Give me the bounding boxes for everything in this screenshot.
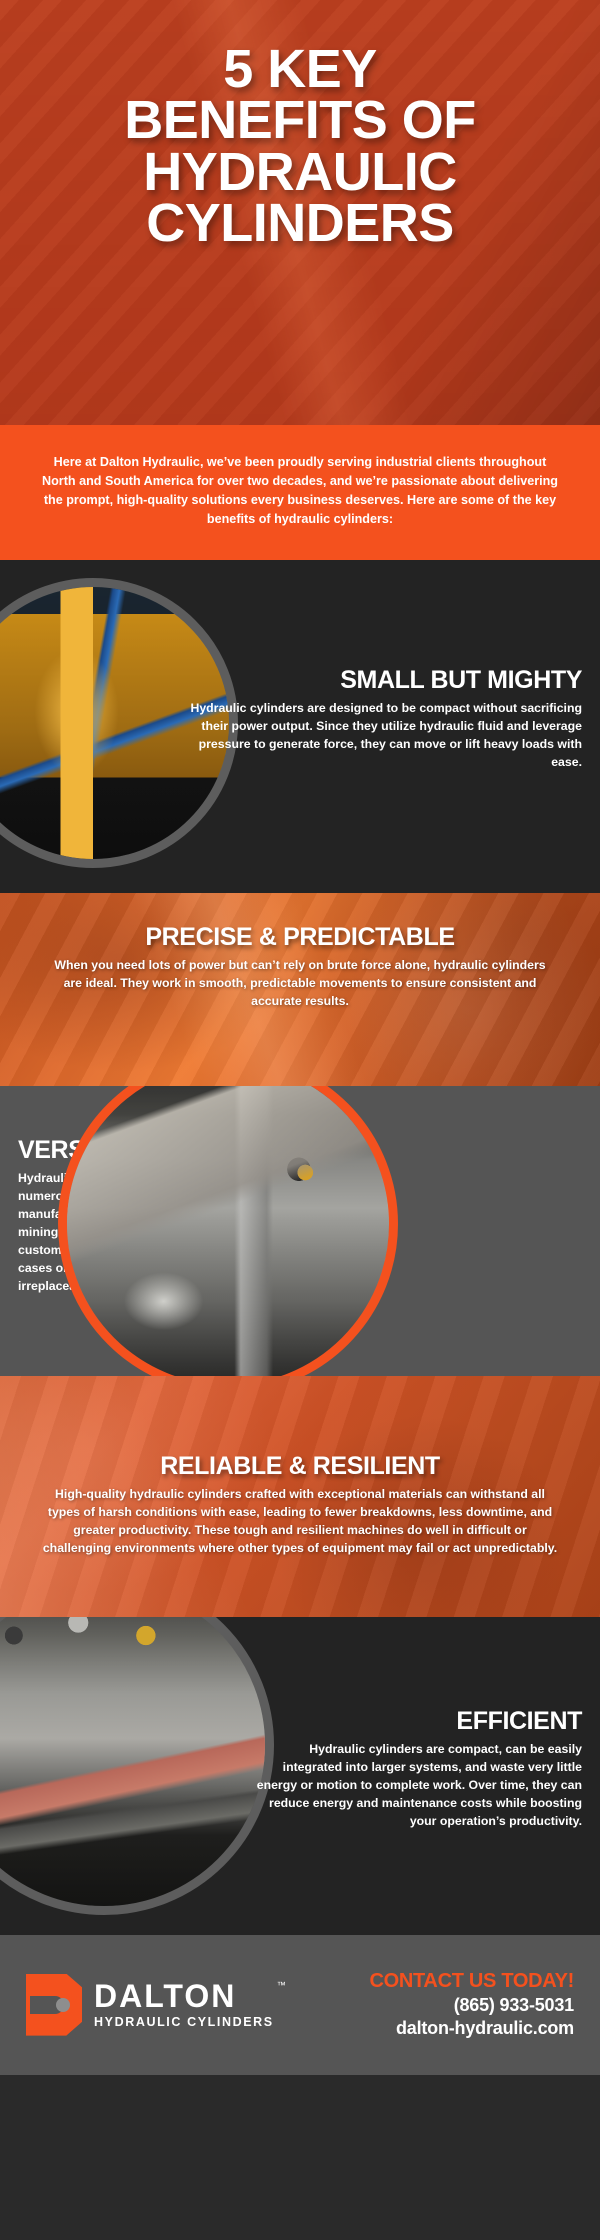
benefit-section-small-but-mighty: SMALL BUT MIGHTY Hydraulic cylinders are… <box>0 560 600 893</box>
page-title: 5 KEY BENEFITS OF HYDRAULIC CYLINDERS <box>0 44 600 249</box>
hero-banner: 5 KEY BENEFITS OF HYDRAULIC CYLINDERS <box>0 0 600 425</box>
benefit-heading: SMALL BUT MIGHTY <box>190 668 582 694</box>
logo-pin-circle <box>56 1998 70 2012</box>
contact-block: CONTACT US TODAY! (865) 933-5031 dalton-… <box>369 1970 574 2039</box>
benefit-image-versatile <box>58 1086 398 1376</box>
benefit-section-precise-predictable: PRECISE & PREDICTABLE When you need lots… <box>0 893 600 1086</box>
benefit-text-small-but-mighty: SMALL BUT MIGHTY Hydraulic cylinders are… <box>190 668 582 772</box>
intro-band: Here at Dalton Hydraulic, we’ve been pro… <box>0 425 600 560</box>
benefit-heading: EFFICIENT <box>248 1709 582 1735</box>
dalton-d-icon <box>26 1974 82 2036</box>
contact-website[interactable]: dalton-hydraulic.com <box>369 2018 574 2039</box>
logo-text-block: DALTON ™ HYDRAULIC CYLINDERS <box>94 1980 274 2029</box>
infographic-page: 5 KEY BENEFITS OF HYDRAULIC CYLINDERS He… <box>0 0 600 2240</box>
benefit-text-reliable-resilient: RELIABLE & RESILIENT High-quality hydrau… <box>38 1454 562 1558</box>
benefit-body: Hydraulic cylinders are designed to be c… <box>190 700 582 772</box>
logo-name: DALTON <box>94 1980 274 2012</box>
benefit-heading: RELIABLE & RESILIENT <box>38 1454 562 1480</box>
trademark-symbol: ™ <box>277 1980 286 1990</box>
intro-paragraph: Here at Dalton Hydraulic, we’ve been pro… <box>42 453 558 530</box>
hero-title-line-3: HYDRAULIC <box>14 147 586 198</box>
benefit-heading: PRECISE & PREDICTABLE <box>50 925 550 951</box>
contact-phone[interactable]: (865) 933-5031 <box>369 1995 574 2016</box>
benefit-text-precise-predictable: PRECISE & PREDICTABLE When you need lots… <box>50 925 550 1011</box>
benefit-body: Hydraulic cylinders are compact, can be … <box>248 1741 582 1831</box>
logo-subtitle: HYDRAULIC CYLINDERS <box>94 2015 274 2029</box>
brand-logo[interactable]: DALTON ™ HYDRAULIC CYLINDERS <box>26 1974 274 2036</box>
hero-title-line-1: 5 KEY <box>14 44 586 95</box>
benefit-section-efficient: EFFICIENT Hydraulic cylinders are compac… <box>0 1617 600 1935</box>
contact-title: CONTACT US TODAY! <box>369 1970 574 1993</box>
benefit-section-versatile: VERSATILE Hydraulic cylinders are widely… <box>0 1086 600 1376</box>
benefit-section-reliable-resilient: RELIABLE & RESILIENT High-quality hydrau… <box>0 1376 600 1617</box>
benefit-text-efficient: EFFICIENT Hydraulic cylinders are compac… <box>248 1709 582 1831</box>
benefit-body: When you need lots of power but can’t re… <box>50 957 550 1011</box>
hero-title-line-4: CYLINDERS <box>14 198 586 249</box>
benefit-body: High-quality hydraulic cylinders crafted… <box>38 1486 562 1558</box>
footer-bar: DALTON ™ HYDRAULIC CYLINDERS CONTACT US … <box>0 1935 600 2075</box>
hero-title-line-2: BENEFITS OF <box>14 95 586 146</box>
benefit-image-efficient <box>0 1617 274 1915</box>
